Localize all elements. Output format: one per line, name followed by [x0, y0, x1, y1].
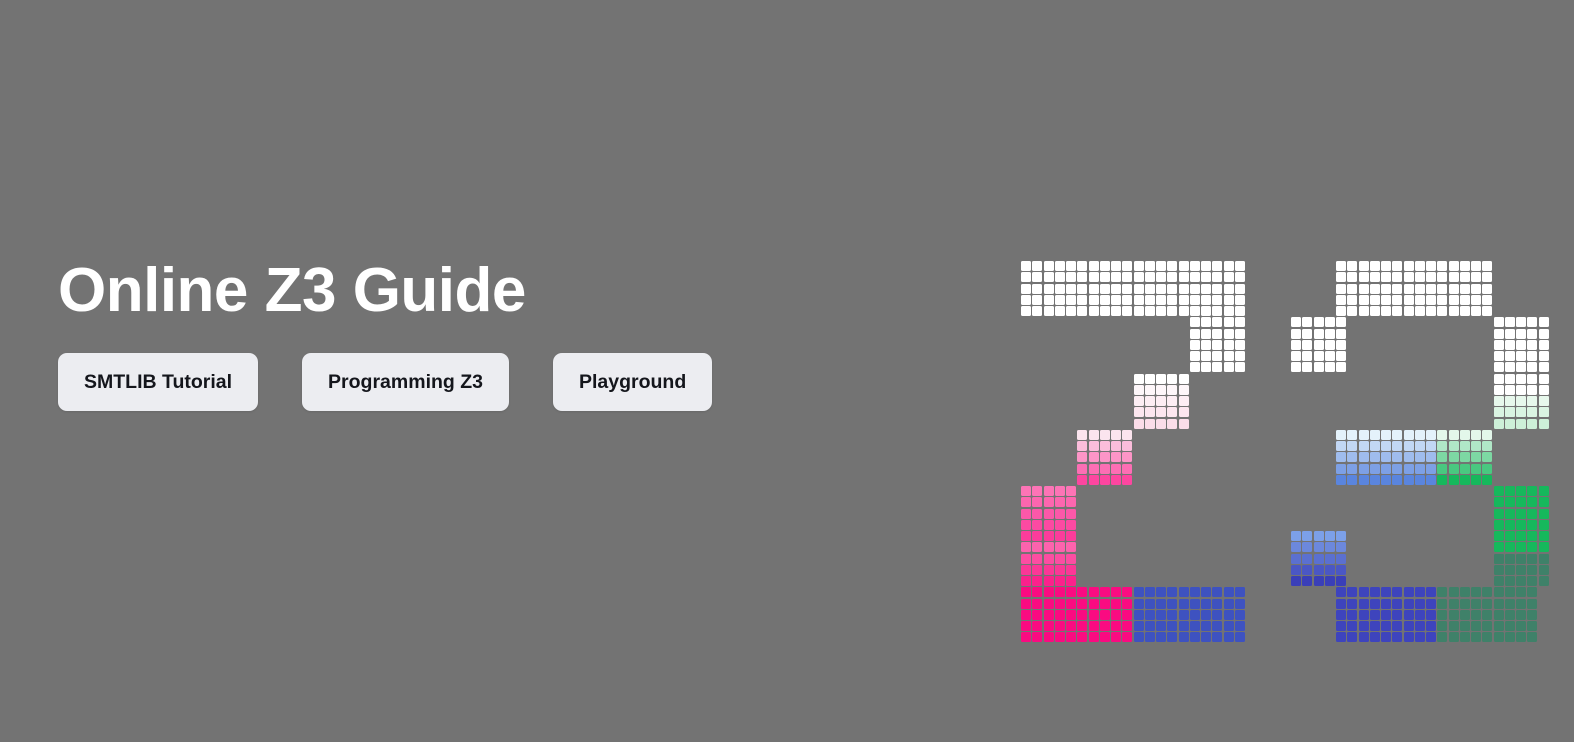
logo-pixel-cell: [1212, 587, 1222, 597]
logo-pixel-cell: [1179, 587, 1189, 597]
logo-pixel-cell: [1156, 374, 1166, 384]
z3-pixel-logo: [1021, 261, 1521, 586]
logo-pixel-cell: [1044, 531, 1054, 541]
logo-pixel-cell: [1055, 587, 1065, 597]
logo-pixel-cell: [1156, 396, 1166, 406]
logo-pixel-cell: [1179, 306, 1189, 316]
logo-pixel-cell: [1122, 272, 1132, 282]
logo-pixel-cell: [1325, 576, 1335, 586]
logo-pixel-cell: [1167, 599, 1177, 609]
logo-pixel-cell: [1111, 295, 1121, 305]
logo-pixel-cell: [1167, 306, 1177, 316]
logo-pixel-cell: [1449, 306, 1459, 316]
logo-pixel-cell: [1336, 464, 1346, 474]
logo-pixel-cell: [1516, 407, 1526, 417]
logo-pixel-cell: [1212, 295, 1222, 305]
logo-pixel-cell: [1235, 599, 1245, 609]
logo-pixel-cell: [1437, 610, 1447, 620]
logo-pixel-cell: [1381, 464, 1391, 474]
logo-pixel-cell: [1539, 329, 1549, 339]
logo-pixel-cell: [1314, 531, 1324, 541]
logo-pixel-cell: [1415, 430, 1425, 440]
logo-pixel-cell: [1212, 272, 1222, 282]
logo-pixel-cell: [1482, 464, 1492, 474]
logo-pixel-cell: [1325, 317, 1335, 327]
logo-pixel-cell: [1527, 621, 1537, 631]
logo-pixel-cell: [1347, 284, 1357, 294]
logo-pixel-cell: [1460, 430, 1470, 440]
logo-pixel-cell: [1516, 520, 1526, 530]
logo-pixel-cell: [1505, 632, 1515, 642]
logo-pixel-cell: [1212, 632, 1222, 642]
logo-pixel-cell: [1381, 587, 1391, 597]
logo-pixel-cell: [1404, 441, 1414, 451]
logo-pixel-cell: [1190, 599, 1200, 609]
logo-pixel-cell: [1134, 295, 1144, 305]
logo-pixel-cell: [1021, 576, 1031, 586]
logo-pixel-cell: [1066, 486, 1076, 496]
logo-pixel-cell: [1381, 441, 1391, 451]
logo-pixel-cell: [1359, 272, 1369, 282]
logo-pixel-cell: [1021, 610, 1031, 620]
logo-pixel-cell: [1539, 565, 1549, 575]
logo-pixel-cell: [1471, 587, 1481, 597]
logo-pixel-cell: [1044, 497, 1054, 507]
logo-pixel-cell: [1122, 610, 1132, 620]
logo-pixel-cell: [1449, 464, 1459, 474]
logo-pixel-cell: [1370, 295, 1380, 305]
logo-pixel-cell: [1336, 554, 1346, 564]
logo-pixel-cell: [1347, 632, 1357, 642]
logo-pixel-cell: [1066, 531, 1076, 541]
logo-pixel-cell: [1055, 272, 1065, 282]
logo-pixel-cell: [1415, 261, 1425, 271]
logo-pixel-cell: [1100, 464, 1110, 474]
logo-pixel-cell: [1404, 306, 1414, 316]
logo-pixel-cell: [1066, 520, 1076, 530]
logo-pixel-cell: [1179, 621, 1189, 631]
logo-pixel-cell: [1145, 374, 1155, 384]
logo-pixel-cell: [1336, 542, 1346, 552]
logo-pixel-cell: [1426, 621, 1436, 631]
logo-pixel-cell: [1494, 486, 1504, 496]
logo-pixel-cell: [1145, 599, 1155, 609]
logo-pixel-cell: [1359, 430, 1369, 440]
logo-pixel-cell: [1505, 419, 1515, 429]
logo-pixel-cell: [1494, 632, 1504, 642]
logo-pixel-cell: [1145, 419, 1155, 429]
logo-pixel-cell: [1370, 441, 1380, 451]
logo-pixel-cell: [1224, 284, 1234, 294]
logo-pixel-cell: [1156, 587, 1166, 597]
logo-pixel-cell: [1392, 475, 1402, 485]
logo-pixel-cell: [1471, 464, 1481, 474]
smtlib-tutorial-button[interactable]: SMTLIB Tutorial: [58, 353, 258, 411]
logo-pixel-cell: [1449, 295, 1459, 305]
logo-pixel-cell: [1482, 587, 1492, 597]
logo-pixel-cell: [1359, 441, 1369, 451]
logo-pixel-cell: [1426, 464, 1436, 474]
logo-pixel-cell: [1100, 261, 1110, 271]
logo-pixel-cell: [1111, 632, 1121, 642]
logo-pixel-cell: [1089, 632, 1099, 642]
logo-pixel-cell: [1404, 452, 1414, 462]
logo-pixel-cell: [1505, 554, 1515, 564]
logo-pixel-cell: [1044, 576, 1054, 586]
logo-pixel-cell: [1516, 396, 1526, 406]
logo-pixel-cell: [1302, 565, 1312, 575]
logo-pixel-cell: [1089, 610, 1099, 620]
logo-pixel-cell: [1426, 261, 1436, 271]
logo-pixel-cell: [1066, 284, 1076, 294]
logo-pixel-cell: [1527, 374, 1537, 384]
logo-pixel-cell: [1077, 475, 1087, 485]
logo-pixel-cell: [1482, 621, 1492, 631]
logo-pixel-cell: [1055, 576, 1065, 586]
logo-pixel-cell: [1347, 610, 1357, 620]
programming-z3-button[interactable]: Programming Z3: [302, 353, 509, 411]
logo-pixel-cell: [1044, 261, 1054, 271]
logo-pixel-cell: [1392, 284, 1402, 294]
logo-pixel-cell: [1494, 374, 1504, 384]
logo-pixel-cell: [1032, 621, 1042, 631]
logo-pixel-cell: [1044, 587, 1054, 597]
logo-pixel-cell: [1471, 261, 1481, 271]
logo-pixel-cell: [1471, 452, 1481, 462]
logo-pixel-cell: [1527, 632, 1537, 642]
logo-pixel-cell: [1111, 599, 1121, 609]
logo-pixel-cell: [1426, 295, 1436, 305]
logo-pixel-cell: [1404, 272, 1414, 282]
logo-pixel-cell: [1460, 610, 1470, 620]
logo-pixel-cell: [1134, 610, 1144, 620]
logo-pixel-cell: [1404, 475, 1414, 485]
logo-pixel-cell: [1460, 284, 1470, 294]
logo-pixel-cell: [1494, 542, 1504, 552]
logo-pixel-cell: [1235, 587, 1245, 597]
logo-pixel-cell: [1392, 621, 1402, 631]
logo-pixel-cell: [1415, 284, 1425, 294]
logo-pixel-cell: [1539, 509, 1549, 519]
logo-pixel-cell: [1516, 362, 1526, 372]
logo-pixel-cell: [1235, 610, 1245, 620]
logo-pixel-cell: [1381, 475, 1391, 485]
logo-pixel-cell: [1100, 441, 1110, 451]
logo-pixel-cell: [1370, 587, 1380, 597]
logo-pixel-cell: [1471, 430, 1481, 440]
logo-pixel-cell: [1336, 284, 1346, 294]
logo-pixel-cell: [1032, 599, 1042, 609]
logo-pixel-cell: [1100, 610, 1110, 620]
logo-pixel-cell: [1235, 362, 1245, 372]
logo-pixel-cell: [1415, 441, 1425, 451]
logo-pixel-cell: [1145, 261, 1155, 271]
logo-pixel-cell: [1359, 587, 1369, 597]
logo-pixel-cell: [1044, 295, 1054, 305]
logo-pixel-cell: [1167, 632, 1177, 642]
logo-pixel-cell: [1426, 284, 1436, 294]
logo-pixel-cell: [1471, 441, 1481, 451]
logo-pixel-cell: [1527, 531, 1537, 541]
logo-pixel-cell: [1044, 554, 1054, 564]
logo-pixel-cell: [1426, 599, 1436, 609]
logo-pixel-cell: [1302, 542, 1312, 552]
logo-pixel-cell: [1156, 295, 1166, 305]
logo-pixel-cell: [1134, 284, 1144, 294]
logo-pixel-cell: [1122, 632, 1132, 642]
logo-pixel-cell: [1212, 329, 1222, 339]
logo-pixel-cell: [1347, 261, 1357, 271]
logo-pixel-cell: [1291, 351, 1301, 361]
logo-pixel-cell: [1482, 610, 1492, 620]
logo-pixel-cell: [1494, 554, 1504, 564]
logo-pixel-cell: [1516, 329, 1526, 339]
logo-pixel-cell: [1201, 621, 1211, 631]
logo-pixel-cell: [1134, 272, 1144, 282]
logo-pixel-cell: [1190, 295, 1200, 305]
logo-pixel-cell: [1134, 621, 1144, 631]
logo-pixel-cell: [1370, 261, 1380, 271]
logo-pixel-cell: [1325, 531, 1335, 541]
logo-pixel-cell: [1437, 261, 1447, 271]
logo-pixel-cell: [1201, 272, 1211, 282]
logo-pixel-cell: [1302, 340, 1312, 350]
logo-pixel-cell: [1347, 306, 1357, 316]
logo-pixel-cell: [1359, 475, 1369, 485]
logo-pixel-cell: [1539, 407, 1549, 417]
logo-pixel-cell: [1201, 610, 1211, 620]
logo-pixel-cell: [1156, 385, 1166, 395]
logo-pixel-cell: [1516, 632, 1526, 642]
logo-pixel-cell: [1494, 599, 1504, 609]
logo-pixel-cell: [1190, 317, 1200, 327]
logo-pixel-cell: [1077, 261, 1087, 271]
logo-pixel-cell: [1122, 284, 1132, 294]
logo-pixel-cell: [1505, 385, 1515, 395]
logo-pixel-cell: [1527, 362, 1537, 372]
logo-pixel-cell: [1021, 261, 1031, 271]
logo-pixel-cell: [1021, 531, 1031, 541]
logo-pixel-cell: [1111, 272, 1121, 282]
logo-pixel-cell: [1516, 554, 1526, 564]
logo-pixel-cell: [1291, 542, 1301, 552]
logo-pixel-cell: [1122, 452, 1132, 462]
logo-pixel-cell: [1089, 295, 1099, 305]
logo-pixel-cell: [1212, 317, 1222, 327]
logo-pixel-cell: [1539, 576, 1549, 586]
logo-pixel-cell: [1392, 587, 1402, 597]
logo-pixel-cell: [1505, 407, 1515, 417]
logo-pixel-cell: [1100, 632, 1110, 642]
logo-pixel-cell: [1370, 599, 1380, 609]
logo-pixel-cell: [1539, 531, 1549, 541]
logo-pixel-cell: [1224, 610, 1234, 620]
logo-pixel-cell: [1111, 452, 1121, 462]
logo-pixel-cell: [1044, 542, 1054, 552]
logo-pixel-cell: [1449, 621, 1459, 631]
logo-pixel-cell: [1032, 542, 1042, 552]
logo-pixel-cell: [1077, 295, 1087, 305]
logo-pixel-cell: [1055, 520, 1065, 530]
logo-pixel-cell: [1482, 306, 1492, 316]
logo-pixel-cell: [1404, 295, 1414, 305]
logo-pixel-cell: [1415, 475, 1425, 485]
logo-pixel-cell: [1089, 475, 1099, 485]
logo-pixel-cell: [1235, 261, 1245, 271]
logo-pixel-cell: [1021, 632, 1031, 642]
logo-pixel-cell: [1066, 295, 1076, 305]
logo-pixel-cell: [1122, 261, 1132, 271]
logo-pixel-cell: [1494, 407, 1504, 417]
logo-pixel-cell: [1336, 317, 1346, 327]
logo-pixel-cell: [1235, 632, 1245, 642]
logo-pixel-cell: [1359, 306, 1369, 316]
logo-pixel-cell: [1437, 464, 1447, 474]
logo-pixel-cell: [1336, 452, 1346, 462]
logo-pixel-cell: [1325, 542, 1335, 552]
logo-pixel-cell: [1516, 587, 1526, 597]
logo-pixel-cell: [1359, 261, 1369, 271]
logo-pixel-cell: [1066, 272, 1076, 282]
logo-pixel-cell: [1167, 610, 1177, 620]
logo-pixel-cell: [1325, 351, 1335, 361]
logo-pixel-cell: [1539, 362, 1549, 372]
logo-pixel-cell: [1032, 261, 1042, 271]
logo-pixel-cell: [1179, 261, 1189, 271]
logo-pixel-cell: [1404, 632, 1414, 642]
logo-pixel-cell: [1032, 587, 1042, 597]
logo-pixel-cell: [1505, 317, 1515, 327]
logo-pixel-cell: [1471, 284, 1481, 294]
logo-pixel-cell: [1201, 306, 1211, 316]
logo-pixel-cell: [1089, 441, 1099, 451]
logo-pixel-cell: [1359, 295, 1369, 305]
logo-pixel-cell: [1179, 599, 1189, 609]
logo-pixel-cell: [1122, 599, 1132, 609]
logo-pixel-cell: [1224, 632, 1234, 642]
logo-pixel-cell: [1190, 329, 1200, 339]
logo-pixel-cell: [1494, 587, 1504, 597]
logo-pixel-cell: [1449, 261, 1459, 271]
logo-pixel-cell: [1460, 599, 1470, 609]
logo-pixel-cell: [1021, 542, 1031, 552]
logo-pixel-cell: [1089, 430, 1099, 440]
logo-pixel-cell: [1426, 587, 1436, 597]
logo-pixel-cell: [1426, 272, 1436, 282]
logo-pixel-cell: [1055, 565, 1065, 575]
logo-pixel-cell: [1415, 272, 1425, 282]
logo-pixel-cell: [1381, 621, 1391, 631]
logo-pixel-cell: [1314, 317, 1324, 327]
logo-pixel-cell: [1032, 497, 1042, 507]
logo-pixel-cell: [1426, 610, 1436, 620]
logo-pixel-cell: [1145, 587, 1155, 597]
logo-pixel-cell: [1167, 272, 1177, 282]
logo-pixel-cell: [1527, 317, 1537, 327]
logo-pixel-cell: [1392, 295, 1402, 305]
logo-pixel-cell: [1505, 396, 1515, 406]
logo-pixel-cell: [1381, 610, 1391, 620]
logo-pixel-cell: [1336, 362, 1346, 372]
logo-pixel-cell: [1235, 272, 1245, 282]
hero-button-row: SMTLIB Tutorial Programming Z3 Playgroun…: [58, 353, 958, 411]
logo-pixel-cell: [1494, 621, 1504, 631]
logo-pixel-cell: [1516, 317, 1526, 327]
logo-pixel-cell: [1381, 284, 1391, 294]
logo-pixel-cell: [1066, 610, 1076, 620]
logo-pixel-cell: [1201, 261, 1211, 271]
logo-pixel-cell: [1471, 621, 1481, 631]
logo-pixel-cell: [1291, 565, 1301, 575]
logo-pixel-cell: [1235, 306, 1245, 316]
logo-pixel-cell: [1134, 261, 1144, 271]
logo-pixel-cell: [1314, 340, 1324, 350]
logo-pixel-cell: [1505, 531, 1515, 541]
logo-pixel-cell: [1527, 351, 1537, 361]
logo-pixel-cell: [1100, 599, 1110, 609]
logo-pixel-cell: [1156, 407, 1166, 417]
logo-pixel-cell: [1044, 621, 1054, 631]
playground-button[interactable]: Playground: [553, 353, 712, 411]
logo-pixel-cell: [1539, 520, 1549, 530]
logo-pixel-cell: [1122, 464, 1132, 474]
logo-pixel-cell: [1100, 295, 1110, 305]
logo-pixel-cell: [1482, 475, 1492, 485]
logo-pixel-cell: [1212, 306, 1222, 316]
logo-pixel-cell: [1190, 587, 1200, 597]
logo-pixel-cell: [1381, 306, 1391, 316]
logo-pixel-cell: [1235, 295, 1245, 305]
logo-pixel-cell: [1021, 486, 1031, 496]
logo-pixel-cell: [1381, 295, 1391, 305]
logo-pixel-cell: [1336, 430, 1346, 440]
logo-pixel-cell: [1482, 430, 1492, 440]
logo-pixel-cell: [1471, 295, 1481, 305]
logo-pixel-cell: [1156, 610, 1166, 620]
logo-pixel-cell: [1381, 430, 1391, 440]
logo-pixel-cell: [1167, 621, 1177, 631]
logo-pixel-cell: [1066, 497, 1076, 507]
logo-pixel-cell: [1471, 610, 1481, 620]
logo-pixel-cell: [1336, 632, 1346, 642]
logo-pixel-cell: [1134, 306, 1144, 316]
logo-pixel-cell: [1100, 475, 1110, 485]
logo-pixel-cell: [1539, 419, 1549, 429]
logo-pixel-cell: [1527, 396, 1537, 406]
logo-pixel-cell: [1415, 610, 1425, 620]
logo-pixel-cell: [1167, 396, 1177, 406]
logo-pixel-cell: [1190, 362, 1200, 372]
logo-pixel-cell: [1021, 497, 1031, 507]
logo-pixel-cell: [1314, 542, 1324, 552]
logo-pixel-cell: [1381, 452, 1391, 462]
logo-pixel-cell: [1527, 509, 1537, 519]
logo-pixel-cell: [1291, 576, 1301, 586]
logo-pixel-cell: [1145, 396, 1155, 406]
logo-pixel-cell: [1437, 295, 1447, 305]
logo-pixel-cell: [1291, 531, 1301, 541]
logo-pixel-cell: [1302, 531, 1312, 541]
logo-pixel-cell: [1224, 351, 1234, 361]
logo-pixel-cell: [1527, 486, 1537, 496]
logo-pixel-cell: [1044, 509, 1054, 519]
logo-pixel-cell: [1505, 362, 1515, 372]
logo-pixel-cell: [1044, 520, 1054, 530]
logo-pixel-cell: [1437, 587, 1447, 597]
logo-pixel-cell: [1516, 419, 1526, 429]
logo-pixel-cell: [1482, 295, 1492, 305]
logo-pixel-cell: [1212, 340, 1222, 350]
